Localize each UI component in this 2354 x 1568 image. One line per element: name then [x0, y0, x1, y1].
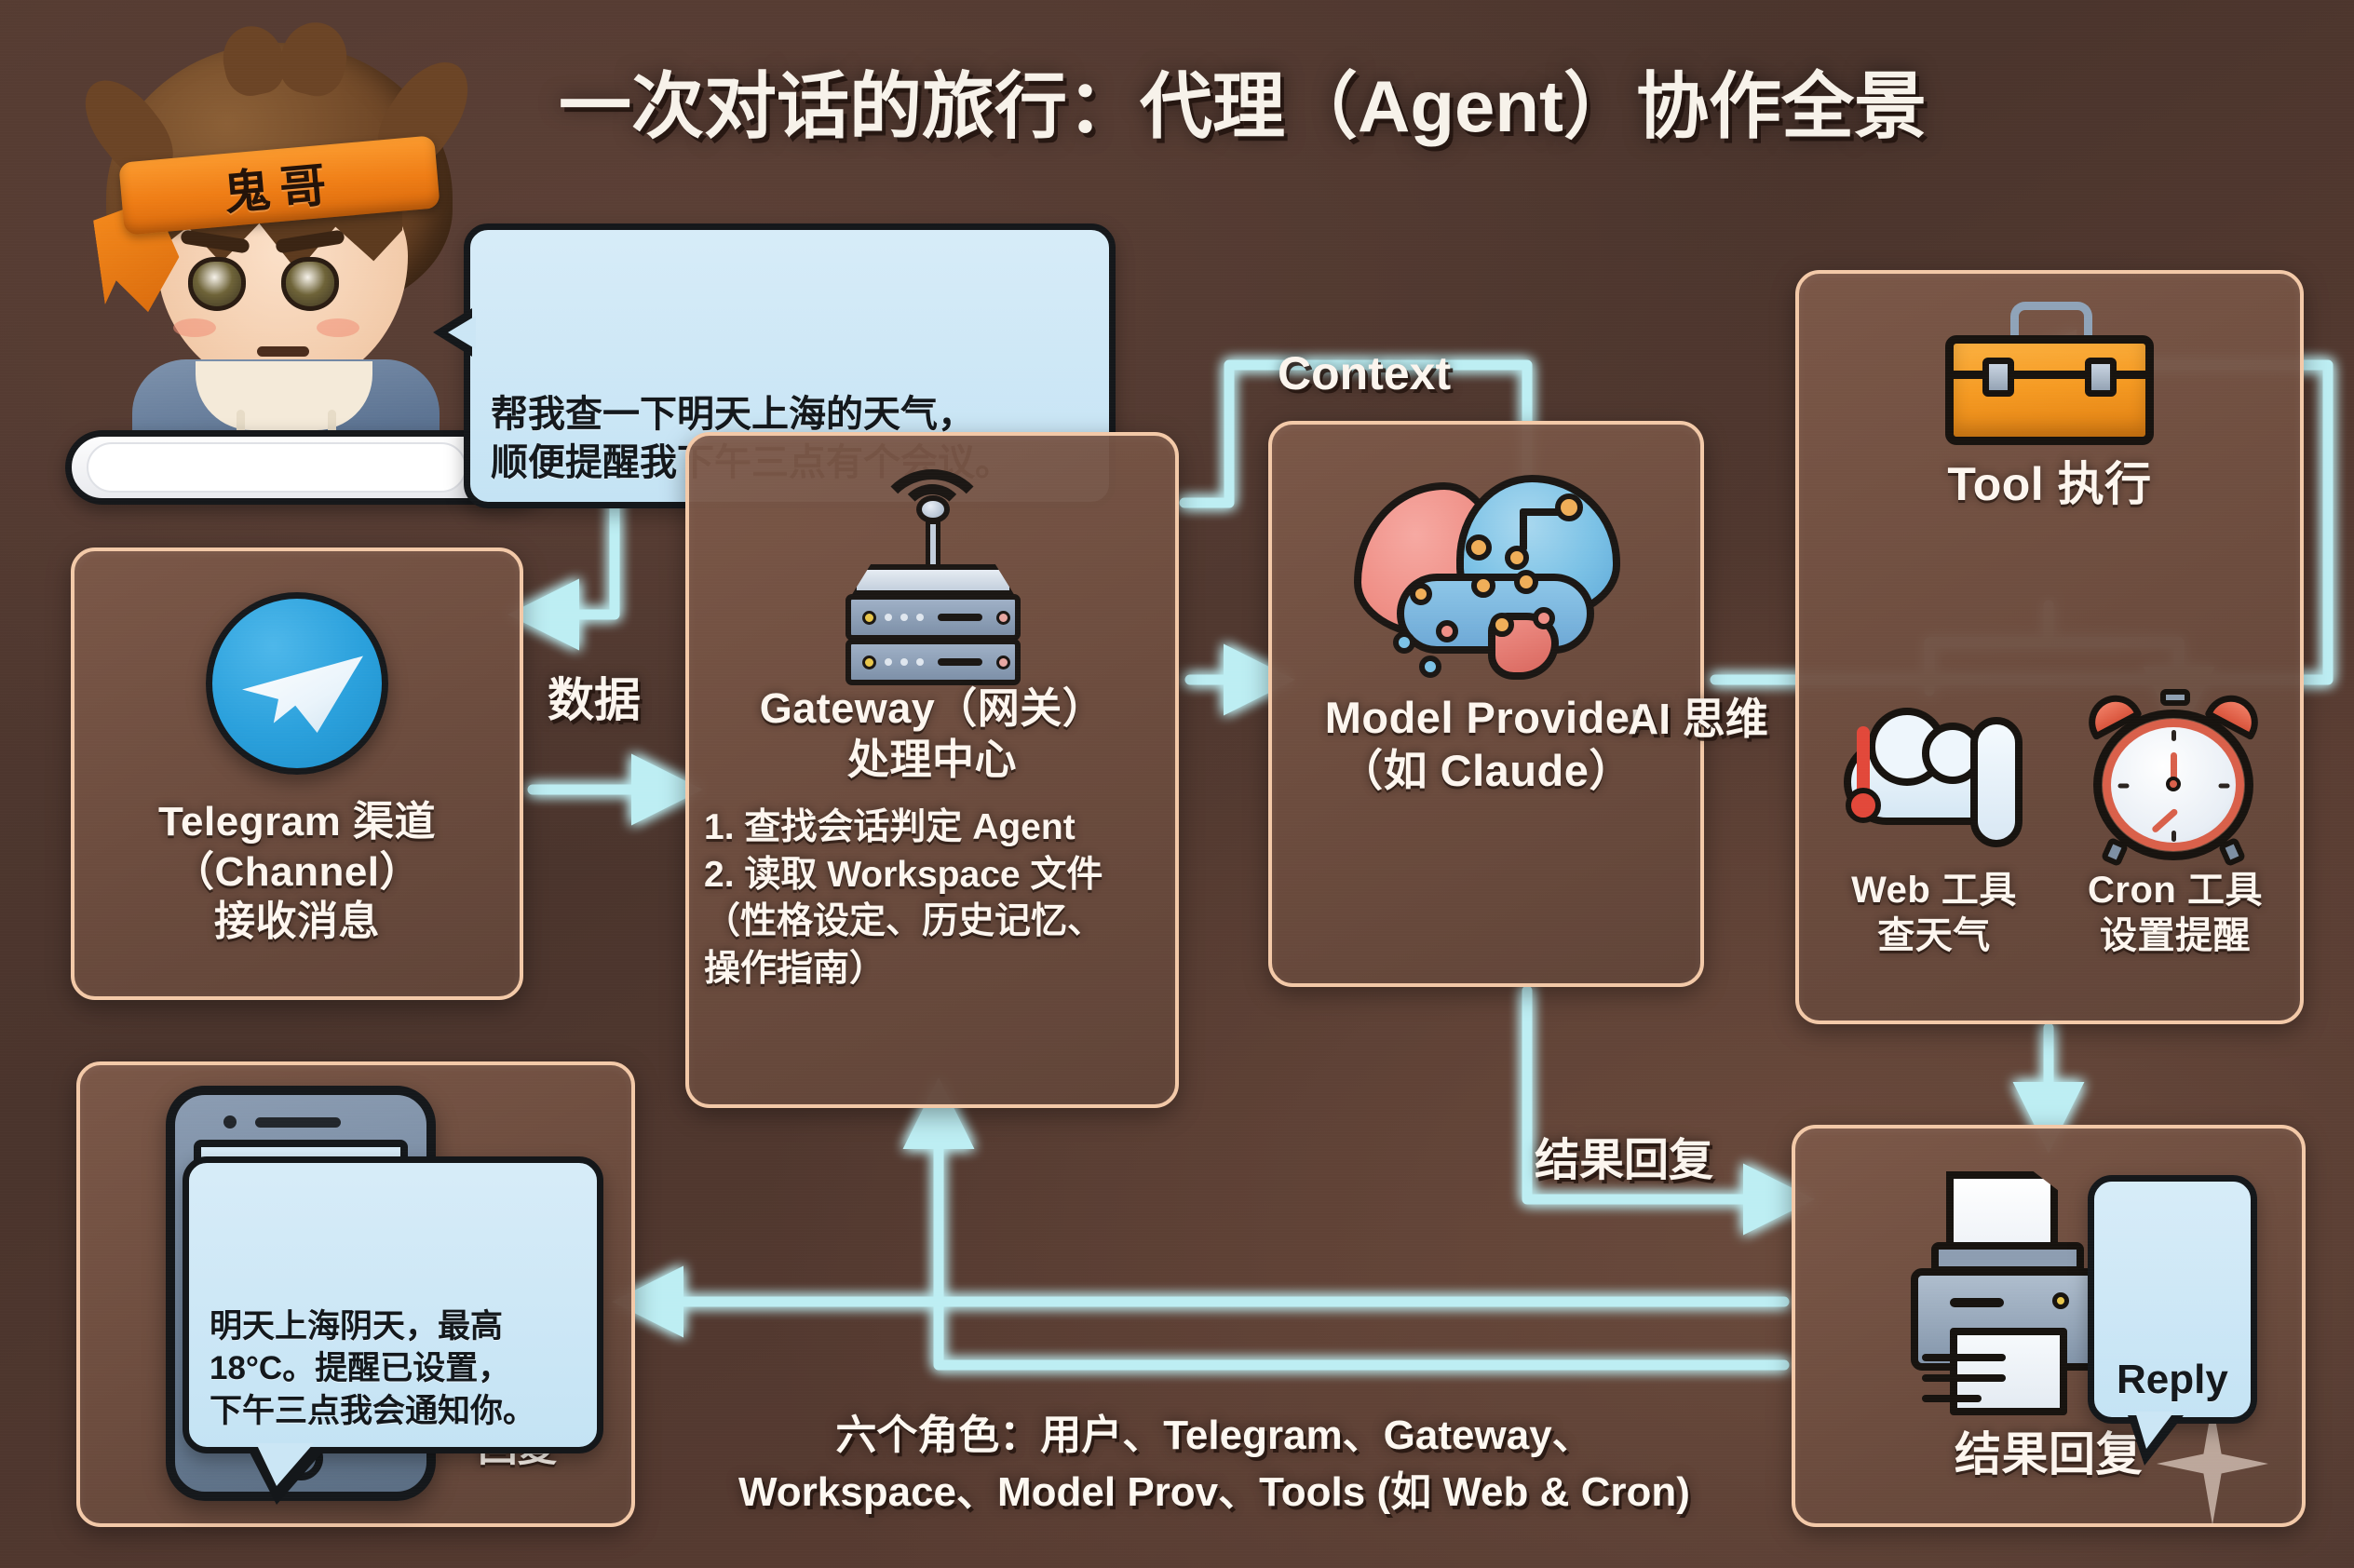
edge-label-data: 数据	[548, 663, 641, 730]
telegram-plane-icon	[206, 592, 388, 775]
telegram-caption: Telegram 渠道 （Channel） 接收消息	[74, 797, 520, 947]
bubble-tail-fill	[2135, 1412, 2174, 1449]
gateway-panel[interactable]: Gateway（网关） 处理中心 1. 查找会话判定 Agent 2. 读取 W…	[685, 432, 1179, 1108]
avatar-headband-label: 鬼哥	[221, 147, 338, 223]
gateway-step-2-detail-b: 操作指南）	[704, 946, 1166, 994]
infographic-canvas: 一次对话的旅行：代理（Agent）协作全景	[0, 0, 2354, 1568]
avatar-eye	[188, 257, 246, 311]
alarm-clock-icon	[2084, 695, 2266, 858]
reply-tag-text: Reply	[2117, 1357, 2228, 1402]
edge-label-result-reply: 结果回复	[1535, 1123, 1713, 1188]
avatar: 鬼哥	[84, 19, 475, 456]
brain-network-icon	[1346, 466, 1626, 680]
bubble-tail-fill	[256, 1443, 314, 1486]
cloud-thermometer-icon	[1844, 702, 2058, 851]
gateway-step-1: 1. 查找会话判定 Agent	[704, 804, 1166, 852]
avatar-cheek	[317, 318, 359, 337]
tools-panel[interactable]: Tool 执行 Web 工具 查天气	[1795, 270, 2304, 1024]
avatar-mouth	[257, 346, 309, 357]
cron-tool-caption: Cron 工具 设置提醒	[2049, 868, 2302, 959]
bubble-tail-fill	[448, 316, 476, 349]
page-title: 一次对话的旅行：代理（Agent）协作全景	[559, 48, 2309, 153]
toolbox-icon	[1938, 304, 2161, 445]
phone-reply-bubble: 明天上海阴天，最高 18°C。提醒已设置， 下午三点我会通知你。	[183, 1156, 603, 1453]
search-input[interactable]	[87, 442, 467, 493]
printer-icon	[1905, 1171, 2116, 1395]
server-antenna-icon	[825, 467, 1039, 682]
reply-tag-bubble: Reply	[2088, 1175, 2257, 1424]
edge-label-context: Context	[1278, 346, 1451, 400]
edge-label-ai-thinking: AI 思维	[1628, 685, 1768, 747]
telegram-panel[interactable]: Telegram 渠道 （Channel） 接收消息	[71, 547, 523, 1000]
avatar-hood-collar	[196, 361, 372, 430]
gateway-step-2-detail-a: （性格设定、历史记忆、	[704, 899, 1166, 946]
avatar-cheek	[173, 318, 216, 337]
footer-note: 六个角色：用户、Telegram、Gateway、 Workspace、Mode…	[656, 1408, 1773, 1521]
phone-reply-text: 明天上海阴天，最高 18°C。提醒已设置， 下午三点我会通知你。	[210, 1308, 535, 1429]
avatar-eye	[281, 257, 339, 311]
tools-caption: Tool 执行	[1799, 456, 2300, 513]
gateway-step-2: 2. 读取 Workspace 文件	[704, 852, 1166, 899]
web-tool-caption: Web 工具 查天气	[1808, 868, 2060, 959]
gateway-caption: Gateway（网关） 处理中心	[689, 683, 1175, 786]
